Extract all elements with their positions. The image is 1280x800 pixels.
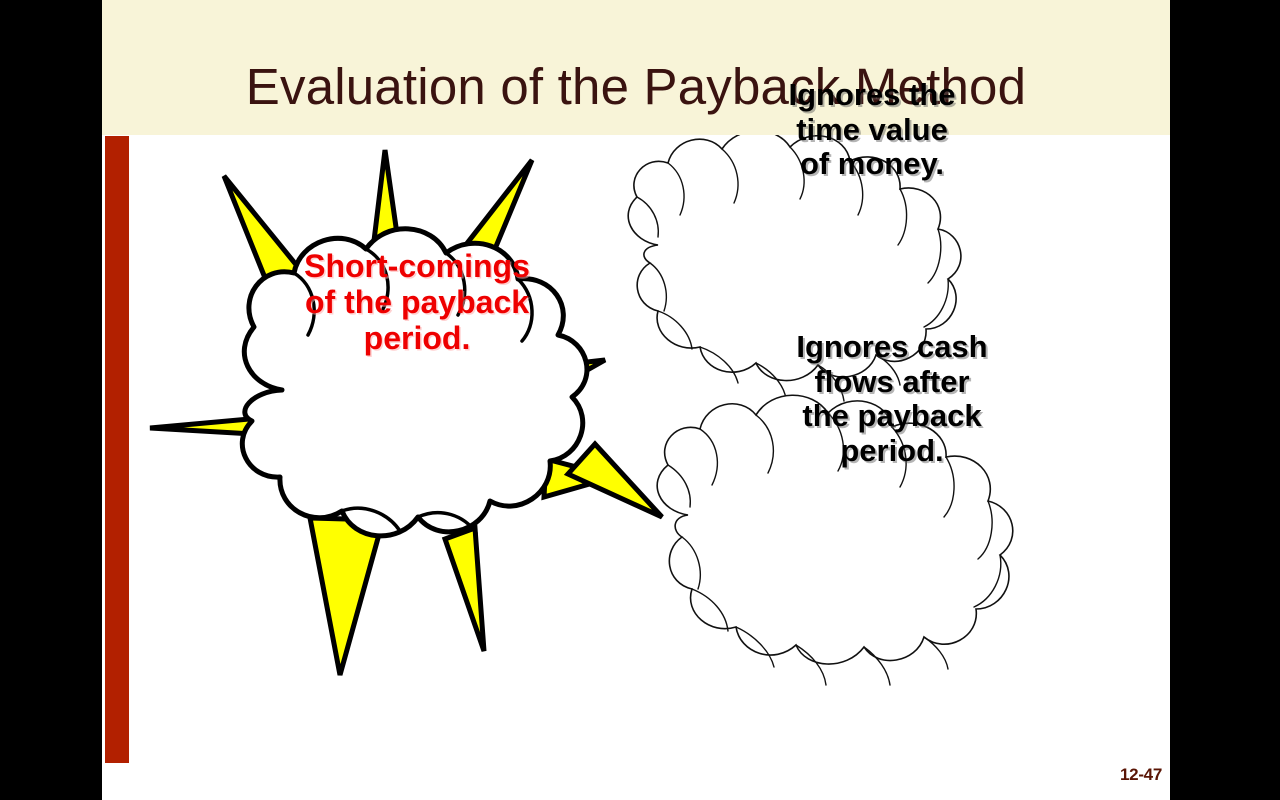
callout-2-line-3: the payback xyxy=(742,399,1042,434)
burst-line-3: period. xyxy=(270,321,564,357)
callout-1-line-3: of money. xyxy=(722,147,1022,182)
callout-1-line-1: Ignores the xyxy=(722,78,1022,113)
burst-line-1: Short-comings xyxy=(270,249,564,285)
callout-2-line-2: flows after xyxy=(742,365,1042,400)
callout-2-line-1: Ignores cash xyxy=(742,330,1042,365)
callout-2-line-4: period. xyxy=(742,434,1042,469)
burst-line-2: of the payback xyxy=(270,285,564,321)
slide-root: Evaluation of the Payback Method xyxy=(0,0,1280,800)
callout-2-label: Ignores cash flows after the payback per… xyxy=(742,330,1042,469)
page-number: 12-47 xyxy=(1002,765,1162,785)
callout-1-line-2: time value xyxy=(722,113,1022,148)
callout-1-label: Ignores the time value of money. xyxy=(722,78,1022,182)
slide-canvas: Evaluation of the Payback Method xyxy=(102,0,1170,800)
letterbox-right xyxy=(1170,0,1280,800)
explosion-burst-icon xyxy=(150,150,662,675)
burst-label: Short-comings of the payback period. xyxy=(270,249,564,356)
letterbox-left xyxy=(0,0,102,800)
